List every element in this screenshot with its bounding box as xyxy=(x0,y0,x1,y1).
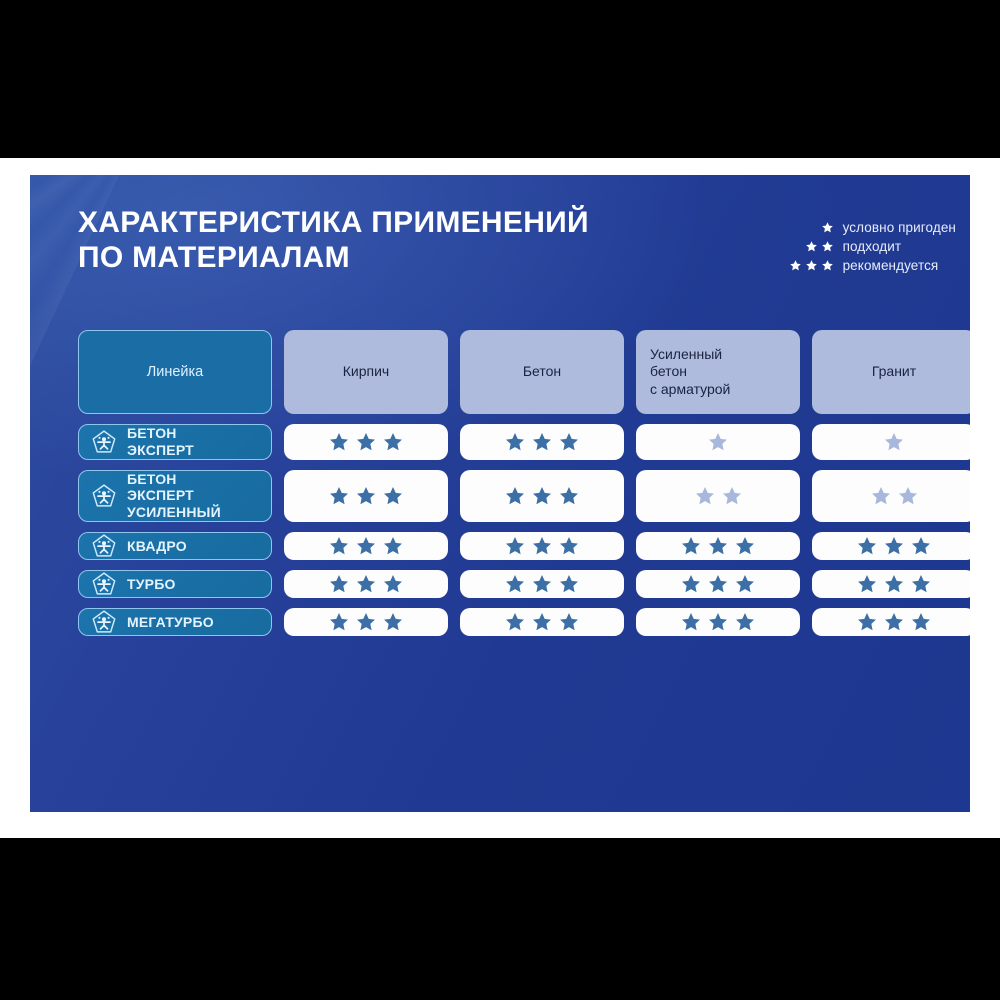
table-header-material: Кирпич xyxy=(284,330,448,414)
table-row-label: БЕТОН ЭКСПЕРТ УСИЛЕННЫЙ xyxy=(78,470,272,522)
star-icon xyxy=(870,485,892,507)
star-icon xyxy=(558,485,580,507)
star-icon xyxy=(504,431,526,453)
star-icon xyxy=(910,611,932,633)
star-icon xyxy=(558,611,580,633)
table-header-material: Гранит xyxy=(812,330,970,414)
star-icon xyxy=(558,573,580,595)
star-icon xyxy=(355,431,377,453)
star-icon xyxy=(707,573,729,595)
rating-cell xyxy=(812,532,970,560)
pentagon-figure-logo-icon xyxy=(91,609,117,635)
star-icon xyxy=(707,535,729,557)
legend-item-label: подходит xyxy=(843,239,902,254)
rating-cell xyxy=(460,570,624,598)
product-name: БЕТОН ЭКСПЕРТ xyxy=(127,425,194,459)
star-icon xyxy=(504,573,526,595)
pentagon-figure-logo-icon xyxy=(91,429,117,455)
star-icon xyxy=(382,573,404,595)
star-icon xyxy=(504,535,526,557)
star-icon xyxy=(734,573,756,595)
star-icon xyxy=(355,535,377,557)
star-icon xyxy=(328,431,350,453)
rating-cell xyxy=(812,424,970,460)
rating-cell xyxy=(284,532,448,560)
star-icon xyxy=(910,573,932,595)
rating-cell xyxy=(284,424,448,460)
star-icon xyxy=(355,485,377,507)
legend-stars xyxy=(774,240,834,253)
star-icon xyxy=(707,611,729,633)
star-icon xyxy=(883,611,905,633)
legend-item: условно пригоден xyxy=(774,220,956,235)
screenshot-canvas: ХАРАКТЕРИСТИКА ПРИМЕНЕНИЙ ПО МАТЕРИАЛАМ … xyxy=(0,0,1000,1000)
rating-cell xyxy=(284,608,448,636)
star-icon xyxy=(328,535,350,557)
star-icon xyxy=(707,431,729,453)
table-header-material: Усиленный бетон с арматурой xyxy=(636,330,800,414)
star-icon xyxy=(355,573,377,595)
pentagon-figure-logo-icon xyxy=(91,533,117,559)
star-icon xyxy=(883,535,905,557)
star-icon xyxy=(883,573,905,595)
star-icon xyxy=(680,611,702,633)
star-icon xyxy=(328,611,350,633)
rating-cell xyxy=(812,470,970,522)
star-icon xyxy=(531,485,553,507)
pentagon-figure-logo-icon xyxy=(91,571,117,597)
star-icon xyxy=(531,611,553,633)
rating-cell xyxy=(812,608,970,636)
legend-stars xyxy=(774,221,834,234)
rating-cell xyxy=(812,570,970,598)
rating-cell xyxy=(460,424,624,460)
star-icon xyxy=(531,535,553,557)
rating-cell xyxy=(460,608,624,636)
page-title: ХАРАКТЕРИСТИКА ПРИМЕНЕНИЙ ПО МАТЕРИАЛАМ xyxy=(78,205,698,275)
table-row-label: МЕГАТУРБО xyxy=(78,608,272,636)
star-icon xyxy=(910,535,932,557)
legend-item: подходит xyxy=(774,239,956,254)
star-icon xyxy=(734,535,756,557)
product-name: ТУРБО xyxy=(127,576,176,593)
star-icon xyxy=(382,611,404,633)
star-icon xyxy=(558,535,580,557)
product-name: БЕТОН ЭКСПЕРТ УСИЛЕННЫЙ xyxy=(127,471,221,521)
star-icon xyxy=(531,431,553,453)
table-row-label: ТУРБО xyxy=(78,570,272,598)
star-icon xyxy=(504,611,526,633)
rating-cell xyxy=(460,532,624,560)
star-icon xyxy=(328,573,350,595)
rating-cell xyxy=(636,608,800,636)
rating-cell xyxy=(636,532,800,560)
star-icon xyxy=(721,485,743,507)
star-icon xyxy=(805,259,818,272)
legend-item: рекомендуется xyxy=(774,258,956,273)
star-icon xyxy=(382,431,404,453)
rating-cell xyxy=(636,570,800,598)
rating-cell xyxy=(284,570,448,598)
star-icon xyxy=(531,573,553,595)
pentagon-figure-logo-icon xyxy=(91,483,117,509)
star-icon xyxy=(382,535,404,557)
table-row-label: КВАДРО xyxy=(78,532,272,560)
star-icon xyxy=(504,485,526,507)
star-icon xyxy=(734,611,756,633)
star-icon xyxy=(856,573,878,595)
legend-item-label: рекомендуется xyxy=(843,258,939,273)
legend: условно пригоденподходитрекомендуется xyxy=(774,220,956,273)
star-icon xyxy=(805,240,818,253)
product-name: КВАДРО xyxy=(127,538,187,555)
table-header-material: Бетон xyxy=(460,330,624,414)
table-row-label: БЕТОН ЭКСПЕРТ xyxy=(78,424,272,460)
star-icon xyxy=(694,485,716,507)
rating-cell xyxy=(636,424,800,460)
legend-item-label: условно пригоден xyxy=(843,220,956,235)
legend-stars xyxy=(774,259,834,272)
star-icon xyxy=(856,611,878,633)
star-icon xyxy=(897,485,919,507)
rating-cell xyxy=(284,470,448,522)
star-icon xyxy=(382,485,404,507)
star-icon xyxy=(558,431,580,453)
rating-cell xyxy=(460,470,624,522)
star-icon xyxy=(821,259,834,272)
star-icon xyxy=(821,221,834,234)
star-icon xyxy=(680,535,702,557)
star-icon xyxy=(328,485,350,507)
rating-cell xyxy=(636,470,800,522)
comparison-table: ЛинейкаКирпичБетонУсиленный бетон с арма… xyxy=(78,330,926,636)
star-icon xyxy=(355,611,377,633)
star-icon xyxy=(789,259,802,272)
table-header-lineup: Линейка xyxy=(78,330,272,414)
star-icon xyxy=(680,573,702,595)
star-icon xyxy=(821,240,834,253)
star-icon xyxy=(856,535,878,557)
infographic-poster: ХАРАКТЕРИСТИКА ПРИМЕНЕНИЙ ПО МАТЕРИАЛАМ … xyxy=(30,175,970,812)
product-name: МЕГАТУРБО xyxy=(127,614,214,631)
star-icon xyxy=(883,431,905,453)
